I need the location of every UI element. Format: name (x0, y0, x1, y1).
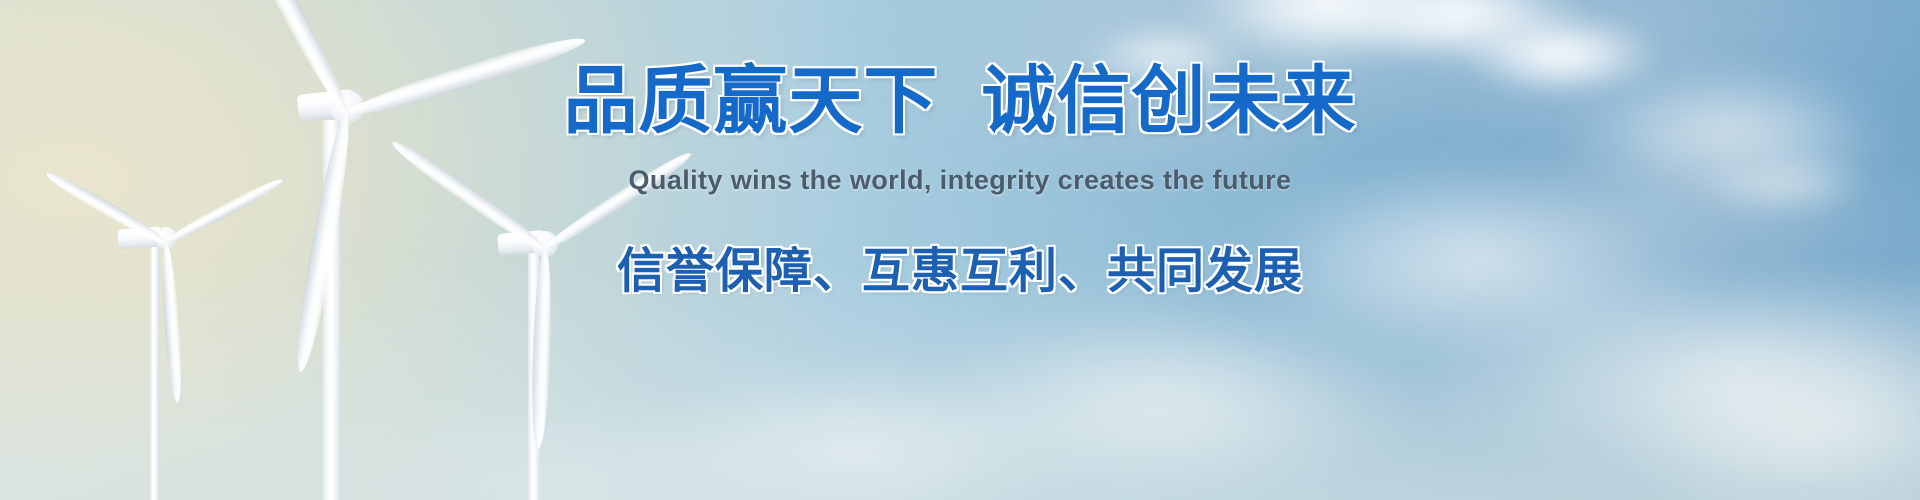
wind-turbine-center-right (380, 0, 860, 500)
hero-banner: 品质赢天下 诚信创未来 Quality wins the world, inte… (0, 0, 1920, 500)
